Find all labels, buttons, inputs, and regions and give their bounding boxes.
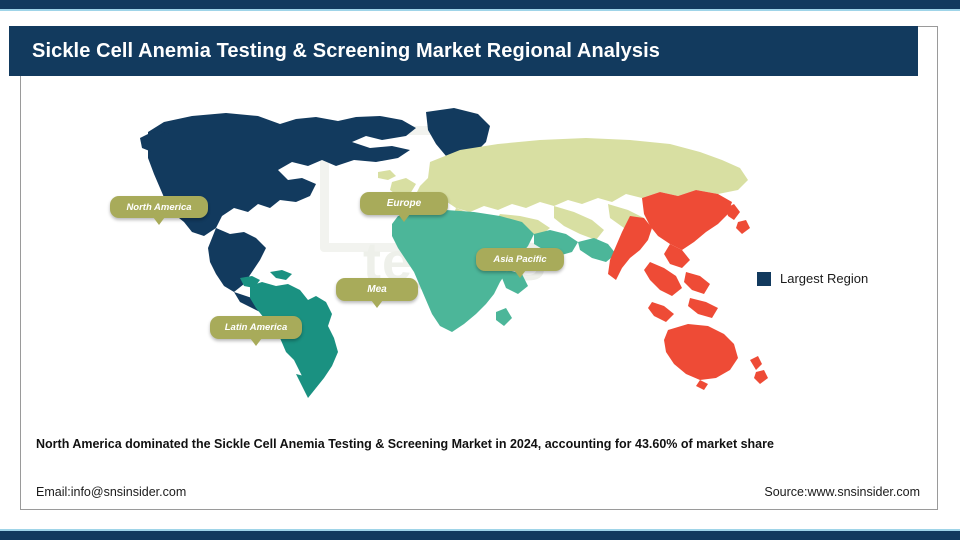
callout-mea[interactable]: Mea bbox=[336, 278, 418, 301]
callout-label-latin-america: Latin America bbox=[225, 322, 287, 333]
callout-label-north-america: North America bbox=[126, 202, 191, 213]
callout-europe[interactable]: Europe bbox=[360, 192, 448, 215]
legend-label-largest-region: Largest Region bbox=[780, 271, 868, 286]
bottom-edge-bar bbox=[0, 531, 960, 540]
callout-label-europe: Europe bbox=[387, 198, 421, 209]
top-edge-accent bbox=[0, 9, 960, 11]
footer-email[interactable]: Email:info@snsinsider.com bbox=[36, 485, 186, 499]
callout-label-asia-pacific: Asia Pacific bbox=[493, 254, 546, 265]
callout-label-mea: Mea bbox=[367, 284, 386, 295]
slide-root: Sickle Cell Anemia Testing & Screening M… bbox=[0, 0, 960, 540]
map-legend: Largest Region bbox=[757, 271, 868, 286]
title-banner: Sickle Cell Anemia Testing & Screening M… bbox=[9, 26, 918, 76]
top-edge-bar bbox=[0, 0, 960, 9]
page-title: Sickle Cell Anemia Testing & Screening M… bbox=[9, 40, 660, 63]
footer: Email:info@snsinsider.com Source:www.sns… bbox=[36, 485, 920, 499]
regional-map: tegic S bbox=[10, 86, 908, 406]
legend-swatch-largest-region bbox=[757, 272, 771, 286]
callout-latin-america[interactable]: Latin America bbox=[210, 316, 302, 339]
map-region-asia-pacific[interactable] bbox=[608, 190, 768, 390]
callout-north-america[interactable]: North America bbox=[110, 196, 208, 218]
callout-asia-pacific[interactable]: Asia Pacific bbox=[476, 248, 564, 271]
caption-text: North America dominated the Sickle Cell … bbox=[36, 437, 896, 451]
world-map-svg bbox=[130, 86, 770, 406]
footer-source[interactable]: Source:www.snsinsider.com bbox=[764, 485, 920, 499]
